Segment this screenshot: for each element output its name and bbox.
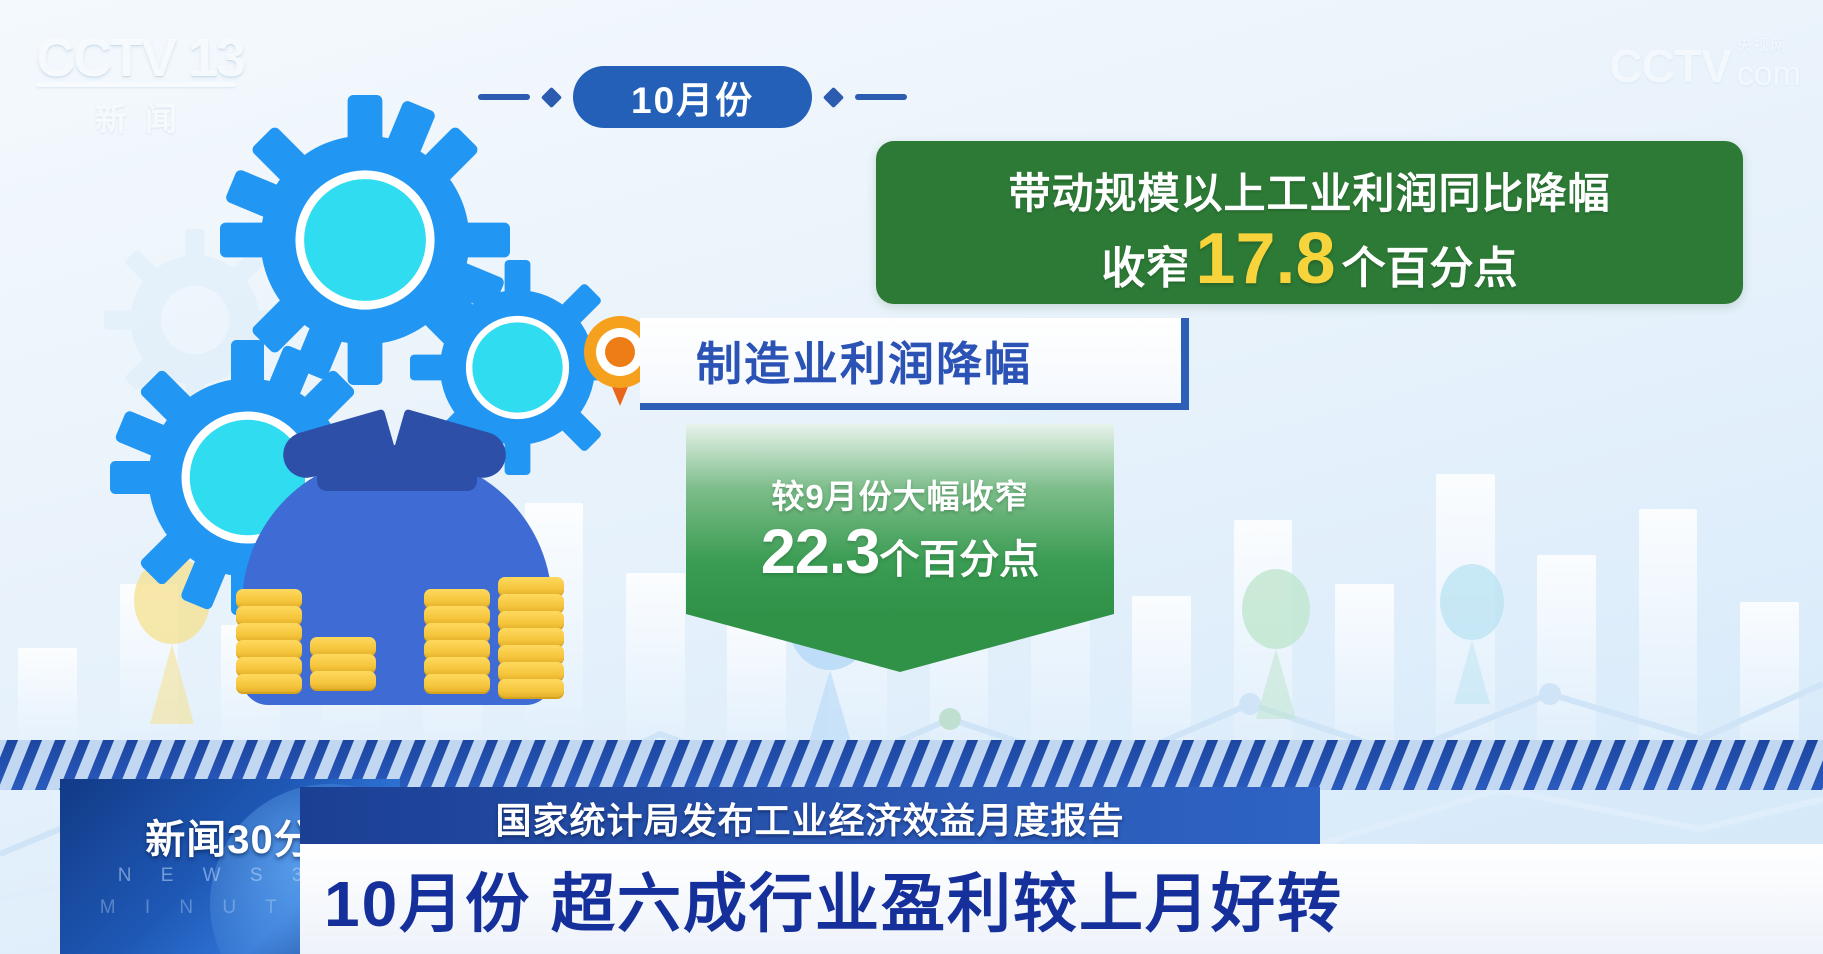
arrow-panel-unit: 个百分点 xyxy=(879,538,1039,582)
broadcast-graphic: CCTV 13 新闻 CCTV 央视网 com xyxy=(0,0,1823,954)
industrial-profit-panel: 带动规模以上工业利润同比降幅 收窄 17.8 个百分点 xyxy=(876,141,1743,304)
map-pin-inner-ring xyxy=(596,328,644,376)
arrow-panel-value-row: 22.3个百分点 xyxy=(686,516,1114,588)
news-headline-text: 10月份 超六成行业盈利较上月好转 xyxy=(324,853,1343,945)
arrow-panel-tip xyxy=(686,614,1114,672)
month-badge-label: 10月份 xyxy=(631,70,754,124)
manufacturing-profit-label-text: 制造业利润降幅 xyxy=(696,328,1032,394)
coin-stack-2 xyxy=(310,640,376,712)
manufacturing-profit-label: 制造业利润降幅 xyxy=(640,318,1188,410)
coin-stack-3 xyxy=(424,592,490,712)
news-headline-bar: 10月份 超六成行业盈利较上月好转 xyxy=(300,844,1823,954)
decor-balloon-green xyxy=(1220,559,1380,739)
badge-dash-left xyxy=(478,94,530,100)
badge-diamond-left xyxy=(541,86,562,107)
month-badge-group: 10月份 xyxy=(478,66,907,128)
news-kicker-text: 国家统计局发布工业经济效益月度报告 xyxy=(495,792,1124,844)
news-kicker-bar: 国家统计局发布工业经济效益月度报告 xyxy=(300,787,1320,849)
industrial-profit-headline: 带动规模以上工业利润同比降幅 xyxy=(1008,160,1610,221)
map-pin-dot xyxy=(605,337,635,367)
month-badge: 10月份 xyxy=(573,66,812,128)
industrial-profit-prefix: 收窄 xyxy=(1101,232,1189,296)
cctv-com-watermark: CCTV 央视网 com xyxy=(1610,34,1801,93)
narrowing-arrow-panel: 较9月份大幅收窄 22.3个百分点 xyxy=(686,424,1114,672)
watermark-domain-text: com xyxy=(1737,55,1801,93)
coin-stack-1 xyxy=(236,592,302,712)
arrow-panel-line1: 较9月份大幅收窄 xyxy=(686,470,1114,518)
watermark-cn-text: 央视网 xyxy=(1737,34,1801,55)
cctv13-logo-text: CCTV 13 xyxy=(36,30,236,86)
coin-stack-4 xyxy=(498,580,564,712)
industrial-profit-unit: 个百分点 xyxy=(1342,232,1518,296)
manufacturing-profit-label-endbar xyxy=(1181,318,1189,410)
badge-diamond-right xyxy=(823,86,844,107)
badge-dash-right xyxy=(855,94,907,100)
industrial-profit-value: 17.8 xyxy=(1195,225,1335,293)
decor-balloon-teal xyxy=(1420,554,1570,724)
arrow-panel-value: 22.3 xyxy=(761,517,880,587)
industrial-profit-value-row: 收窄 17.8 个百分点 xyxy=(1101,225,1517,296)
watermark-main-text: CCTV xyxy=(1610,39,1731,93)
